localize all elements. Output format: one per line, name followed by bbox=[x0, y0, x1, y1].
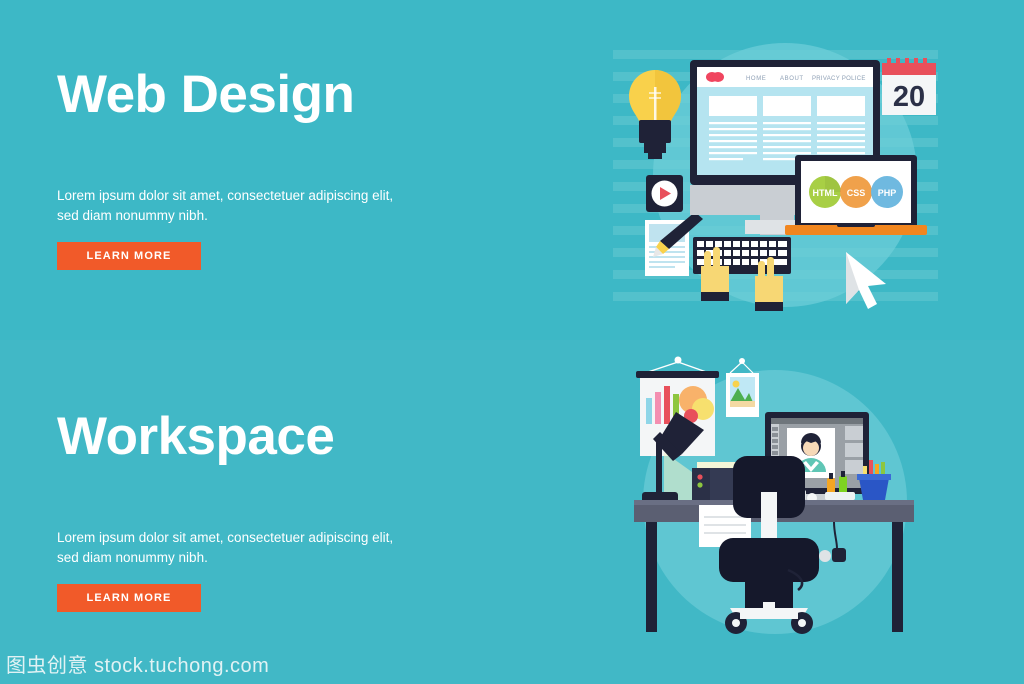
watermark-text: 图虫创意 stock.tuchong.com bbox=[6, 649, 269, 678]
browser-nav-about: ABOUT bbox=[780, 76, 804, 82]
printer-light-red bbox=[697, 474, 702, 479]
browser-nav-privacy: PRIVACY POLICE bbox=[812, 76, 866, 82]
banner-workspace: Workspace Lorem ipsum dolor sit amet, co… bbox=[0, 340, 1024, 684]
page-title-workspace: Workspace bbox=[57, 410, 527, 463]
chart-bar-2 bbox=[655, 392, 661, 424]
body-text-workspace: Lorem ipsum dolor sit amet, consectetuer… bbox=[57, 528, 407, 567]
web-design-copy-block: Web Design bbox=[57, 68, 527, 121]
page-title-web-design: Web Design bbox=[57, 68, 527, 121]
chart-bar-1 bbox=[646, 398, 652, 424]
workspace-cta-block: LEARN MORE bbox=[57, 584, 527, 612]
badge-php-label: PHP bbox=[878, 188, 897, 198]
workspace-copy-block: Workspace bbox=[57, 410, 527, 463]
badge-html-label: HTML bbox=[813, 188, 838, 198]
illustration-web-design: HOME ABOUT PRIVACY POLICE bbox=[605, 30, 950, 320]
chart-bar-3 bbox=[664, 386, 670, 424]
web-design-cta-block: LEARN MORE bbox=[57, 242, 527, 270]
illustration-workspace bbox=[620, 340, 930, 645]
calendar-icon: 20 bbox=[882, 58, 936, 115]
laptop-device: HTML CSS PHP bbox=[785, 155, 927, 235]
promo-banner-page: Web Design Lorem ipsum dolor sit amet, c… bbox=[0, 0, 1024, 684]
framed-picture bbox=[726, 358, 759, 417]
learn-more-button-web-design[interactable]: LEARN MORE bbox=[57, 242, 201, 270]
body-text-web-design: Lorem ipsum dolor sit amet, consectetuer… bbox=[57, 186, 407, 225]
workspace-body-block: Lorem ipsum dolor sit amet, consectetuer… bbox=[57, 528, 527, 567]
banner-web-design: Web Design Lorem ipsum dolor sit amet, c… bbox=[0, 0, 1024, 340]
badge-css-label: CSS bbox=[847, 188, 866, 198]
printer-light-green bbox=[697, 482, 702, 487]
browser-nav-home: HOME bbox=[746, 76, 766, 82]
calendar-day-number: 20 bbox=[893, 81, 925, 113]
play-video-icon bbox=[646, 175, 683, 212]
web-design-body-block: Lorem ipsum dolor sit amet, consectetuer… bbox=[57, 186, 527, 225]
learn-more-button-workspace[interactable]: LEARN MORE bbox=[57, 584, 201, 612]
